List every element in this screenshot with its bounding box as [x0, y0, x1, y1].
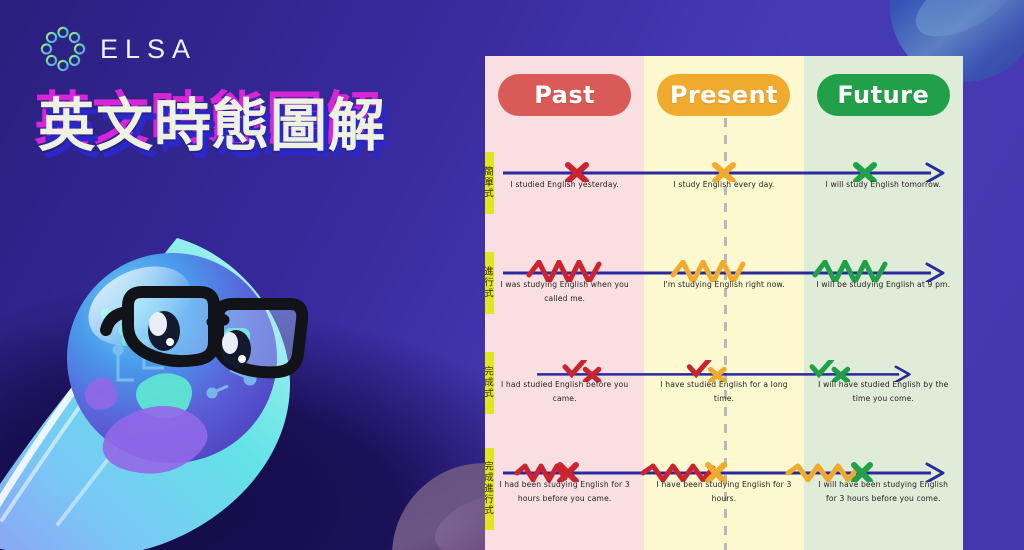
sentence-past-simple: I studied English yesterday.	[485, 178, 644, 192]
sentence-past-perfect-continuous: I had been studying English for 3 hours …	[485, 478, 644, 506]
brand-logo[interactable]: ELSA	[40, 26, 197, 72]
page-title-text: 英文時態圖解	[38, 93, 386, 159]
sentence-row-perfect-continuous: I had been studying English for 3 hours …	[485, 478, 963, 506]
column-header-row: Past Present Future	[485, 56, 963, 134]
header-cell-future: Future	[804, 56, 963, 134]
tab-future[interactable]: Future	[817, 74, 950, 116]
sentence-future-continuous: I will be studying English at 9 pm.	[804, 278, 963, 306]
table-row: I studied English yesterday. I study Eng…	[485, 134, 963, 234]
sentence-past-continuous: I was studying English when you called m…	[485, 278, 644, 306]
row-label-simple: 簡單式	[485, 152, 494, 214]
table-row: I had studied English before you came. I…	[485, 334, 963, 434]
sentence-present-simple: I study English every day.	[644, 178, 803, 192]
brand-name: ELSA	[100, 36, 197, 63]
marker-check-past	[565, 360, 584, 374]
sentence-row-perfect: I had studied English before you came. I…	[485, 378, 963, 406]
page-title-wrap: 英文時態圖解 英文時態圖解 英文時態圖解	[38, 98, 386, 155]
page-title: 英文時態圖解 英文時態圖解 英文時態圖解	[38, 98, 386, 155]
sentence-present-perfect-continuous: I have been studying English for 3 hours…	[644, 478, 803, 506]
elsa-flower-logo-icon	[40, 26, 86, 72]
tab-past[interactable]: Past	[498, 74, 631, 116]
table-row: I was studying English when you called m…	[485, 234, 963, 334]
sentence-row-simple: I studied English yesterday. I study Eng…	[485, 178, 963, 192]
comet-globe-mascot-with-glasses-icon	[0, 186, 322, 550]
sentence-future-perfect-continuous: I will have been studying English for 3 …	[804, 478, 963, 506]
tense-rows: I studied English yesterday. I study Eng…	[485, 134, 963, 550]
sentence-past-perfect: I had studied English before you came.	[485, 378, 644, 406]
header-cell-past: Past	[485, 56, 644, 134]
row-label-perfect-continuous: 完成進行式	[485, 448, 494, 530]
sentence-row-continuous: I was studying English when you called m…	[485, 278, 963, 306]
sentence-future-simple: I will study English tomorrow.	[804, 178, 963, 192]
row-label-continuous: 進行式	[485, 252, 494, 314]
marker-check-present	[689, 360, 708, 374]
marker-check-future	[812, 360, 831, 374]
header-cell-present: Present	[644, 56, 803, 134]
table-row: I had been studying English for 3 hours …	[485, 434, 963, 550]
sentence-future-perfect: I will have studied English by the time …	[804, 378, 963, 406]
row-label-perfect: 完成式	[485, 352, 494, 414]
sentence-present-perfect: I have studied English for a long time.	[644, 378, 803, 406]
tense-chart-card: Past Present Future	[485, 56, 963, 550]
tab-present[interactable]: Present	[657, 74, 790, 116]
sentence-present-continuous: I'm studying English right now.	[644, 278, 803, 306]
